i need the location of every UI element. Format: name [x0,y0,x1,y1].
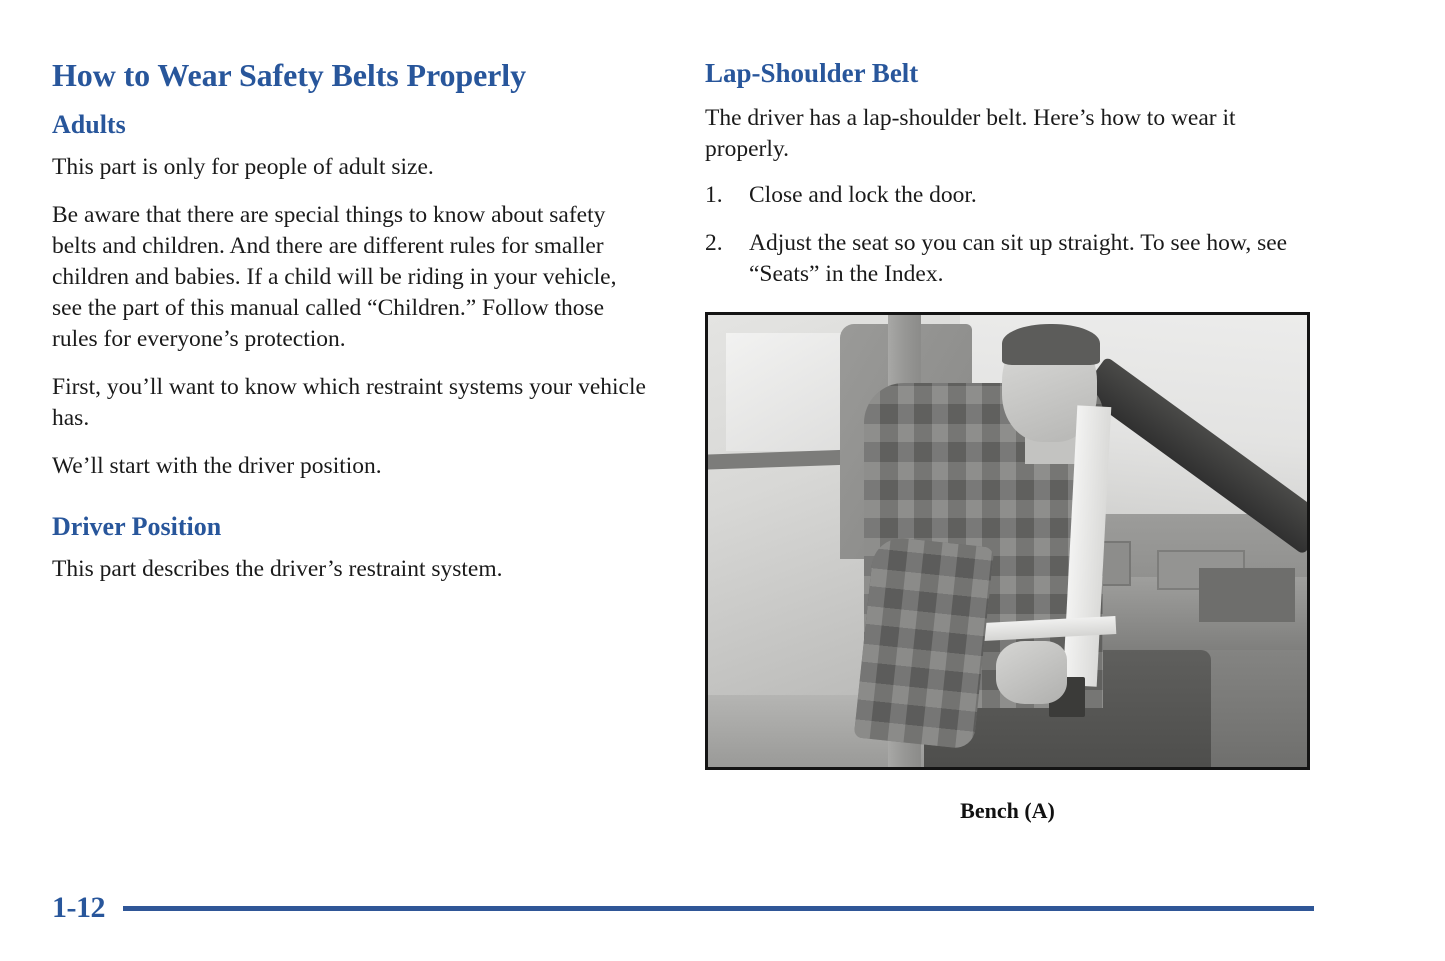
plaid-sleeve-pattern [853,535,993,750]
driver-hand [996,641,1068,704]
paragraph-adult-size: This part is only for people of adult si… [52,152,652,183]
left-column: How to Wear Safety Belts Properly Adults… [52,58,652,602]
step-text: Adjust the seat so you can sit up straig… [749,230,1287,287]
step-number: 1. [705,180,739,211]
paragraph-restraint-systems: First, you’ll want to know which restrai… [52,372,652,434]
figure-bench-a: Bench (A) [705,312,1315,824]
driver-hair [1002,324,1101,365]
heading-lap-shoulder-belt: Lap-Shoulder Belt [705,58,1315,89]
subsection-heading-driver-position: Driver Position [52,512,652,542]
steering-column [1199,568,1295,622]
step-text: Close and lock the door. [749,182,977,208]
step-list: 1. Close and lock the door. 2. Adjust th… [705,180,1315,290]
figure-caption: Bench (A) [705,798,1310,824]
footer-rule [123,906,1314,911]
paragraph-children-rules: Be aware that there are special things t… [52,200,652,355]
manual-page: How to Wear Safety Belts Properly Adults… [0,0,1445,961]
list-item: 1. Close and lock the door. [705,180,1315,211]
page-footer: 1-12 [52,893,1314,923]
driver-arm [853,535,993,750]
right-column: Lap-Shoulder Belt The driver has a lap-s… [705,58,1315,824]
list-item: 2. Adjust the seat so you can sit up str… [705,228,1315,290]
paragraph-driver-position-intro: We’ll start with the driver position. [52,451,652,482]
paragraph-driver-restraint-system: This part describes the driver’s restrai… [52,554,652,585]
paragraph-lap-shoulder-intro: The driver has a lap-shoulder belt. Here… [705,103,1315,165]
illustration-artwork [708,315,1307,767]
subsection-heading-adults: Adults [52,110,652,140]
illustration-driver-lap-shoulder-belt [705,312,1310,770]
page-number: 1-12 [52,893,105,923]
page-title: How to Wear Safety Belts Properly [52,58,652,94]
step-number: 2. [705,228,739,259]
